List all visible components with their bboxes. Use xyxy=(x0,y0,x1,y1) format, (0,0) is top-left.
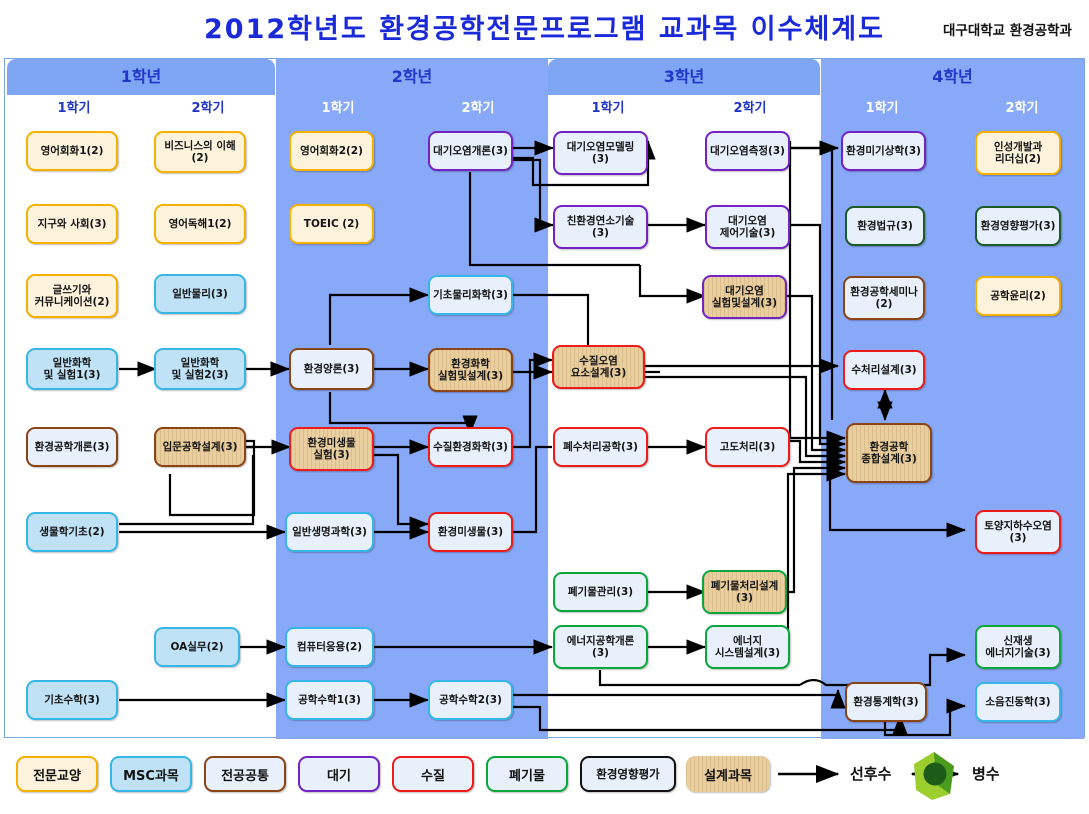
course-node[interactable]: 환경공학개론(3) xyxy=(26,427,118,467)
course-node[interactable]: 환경공학세미나 (2) xyxy=(843,276,925,320)
semester-label-y3s2: 2학기 xyxy=(695,97,805,121)
prerequisite-arrow-icon xyxy=(776,756,848,792)
course-node[interactable]: 폐기물관리(3) xyxy=(553,572,648,612)
course-node[interactable]: 고도처리(3) xyxy=(705,427,790,467)
course-node[interactable]: 대기오염개론(3) xyxy=(428,131,513,171)
course-node[interactable]: 대기오염모델링 (3) xyxy=(553,131,648,175)
semester-label-y1s2: 2학기 xyxy=(153,97,263,121)
year-header-4: 4학년 xyxy=(821,59,1084,95)
legend-item-eia[interactable]: 환경영향평가 xyxy=(580,756,676,792)
legend-label-corequisite: 병수 xyxy=(972,756,1000,792)
course-node[interactable]: 영어회화2(2) xyxy=(289,131,374,171)
course-node[interactable]: TOEIC (2) xyxy=(289,204,374,244)
course-node[interactable]: 환경양론(3) xyxy=(289,348,374,390)
course-node[interactable]: 토양지하수오염 (3) xyxy=(975,510,1061,554)
university-logo-text: 대구대학교 환경공학과 xyxy=(943,16,1072,46)
course-node[interactable]: 폐기물처리설계 (3) xyxy=(702,570,787,614)
course-node[interactable]: 환경미생물(3) xyxy=(428,512,513,552)
course-node[interactable]: 입문공학설계(3) xyxy=(154,427,246,467)
page-title: 2012학년도 환경공학전문프로그램 교과목 이수체계도 xyxy=(0,8,1089,52)
course-node[interactable]: 대기오염측정(3) xyxy=(705,131,790,171)
semester-label-y4s2: 2학기 xyxy=(967,97,1077,121)
course-node[interactable]: 공학수학2(3) xyxy=(428,680,513,720)
course-node[interactable]: 환경영향평가(3) xyxy=(975,206,1061,246)
year-header-1: 1학년 xyxy=(7,59,275,95)
course-node[interactable]: 환경미기상학(3) xyxy=(841,131,926,171)
course-node[interactable]: 글쓰기와 커뮤니케이션(2) xyxy=(26,274,118,318)
course-node[interactable]: 공학윤리(2) xyxy=(975,276,1061,316)
year-header-3: 3학년 xyxy=(548,59,820,95)
course-node[interactable]: 일반화학 및 실험1(3) xyxy=(26,348,118,390)
semester-label-y4s1: 1학기 xyxy=(827,97,937,121)
course-node[interactable]: 환경미생물 실험(3) xyxy=(289,427,374,471)
course-node[interactable]: 환경화학 실험및설계(3) xyxy=(428,348,513,392)
semester-label-y1s1: 1학기 xyxy=(19,97,129,121)
course-node[interactable]: 환경통계학(3) xyxy=(845,682,927,722)
legend-item-design-course[interactable]: 설계과목 xyxy=(686,756,770,792)
course-node[interactable]: 생물학기초(2) xyxy=(26,512,118,552)
course-node[interactable]: 컴퓨터응용(2) xyxy=(285,627,374,667)
semester-label-y2s2: 2학기 xyxy=(423,97,533,121)
course-node[interactable]: 일반생명과학(3) xyxy=(285,512,374,552)
course-node[interactable]: 폐수처리공학(3) xyxy=(553,427,648,467)
legend-item-water[interactable]: 수질 xyxy=(392,756,474,792)
legend-label-prerequisite: 선후수 xyxy=(850,756,891,792)
course-node[interactable]: 에너지공학개론 (3) xyxy=(553,625,648,669)
semester-label-y2s1: 1학기 xyxy=(283,97,393,121)
course-node[interactable]: 일반물리(3) xyxy=(154,274,246,314)
course-node[interactable]: 수질오염 요소설계(3) xyxy=(552,345,645,389)
course-node[interactable]: 비즈니스의 이해 (2) xyxy=(154,131,246,173)
course-node[interactable]: 친환경연소기술 (3) xyxy=(553,205,648,249)
course-node[interactable]: 환경법규(3) xyxy=(845,206,925,246)
legend-item-waste[interactable]: 폐기물 xyxy=(486,756,568,792)
legend-item-msc[interactable]: MSC과목 xyxy=(110,756,192,792)
course-node[interactable]: 기초수학(3) xyxy=(26,680,118,720)
year-header-2: 2학년 xyxy=(276,59,548,95)
course-node[interactable]: 지구와 사회(3) xyxy=(26,204,118,244)
university-logo-icon xyxy=(910,750,958,802)
legend-item-major-common[interactable]: 전공공통 xyxy=(204,756,286,792)
course-node[interactable]: 수처리설계(3) xyxy=(843,350,925,390)
course-node[interactable]: OA실무(2) xyxy=(154,627,240,667)
course-node[interactable]: 기초물리화학(3) xyxy=(428,275,513,315)
semester-label-y3s1: 1학기 xyxy=(553,97,663,121)
course-node[interactable]: 영어독해1(2) xyxy=(154,204,246,244)
course-node[interactable]: 대기오염 실험및설계(3) xyxy=(702,275,787,319)
course-node[interactable]: 영어회화1(2) xyxy=(26,131,118,171)
course-node[interactable]: 인성개발과 리더십(2) xyxy=(975,131,1061,175)
legend-item-general-education[interactable]: 전문교양 xyxy=(16,756,98,792)
course-node[interactable]: 일반화학 및 실험2(3) xyxy=(154,348,246,390)
course-node[interactable]: 에너지 시스템설계(3) xyxy=(705,625,790,669)
legend-item-air[interactable]: 대기 xyxy=(298,756,380,792)
course-node[interactable]: 공학수학1(3) xyxy=(285,680,374,720)
course-node[interactable]: 소음진동학(3) xyxy=(975,682,1061,722)
curriculum-diagram: 2012학년도 환경공학전문프로그램 교과목 이수체계도 1학년 2학년 3학년… xyxy=(0,0,1089,814)
course-node[interactable]: 수질환경화학(3) xyxy=(428,427,513,467)
course-node[interactable]: 신재생 에너지기술(3) xyxy=(975,625,1061,669)
course-node[interactable]: 환경공학 종합설계(3) xyxy=(846,423,932,483)
course-node[interactable]: 대기오염 제어기술(3) xyxy=(705,205,790,249)
